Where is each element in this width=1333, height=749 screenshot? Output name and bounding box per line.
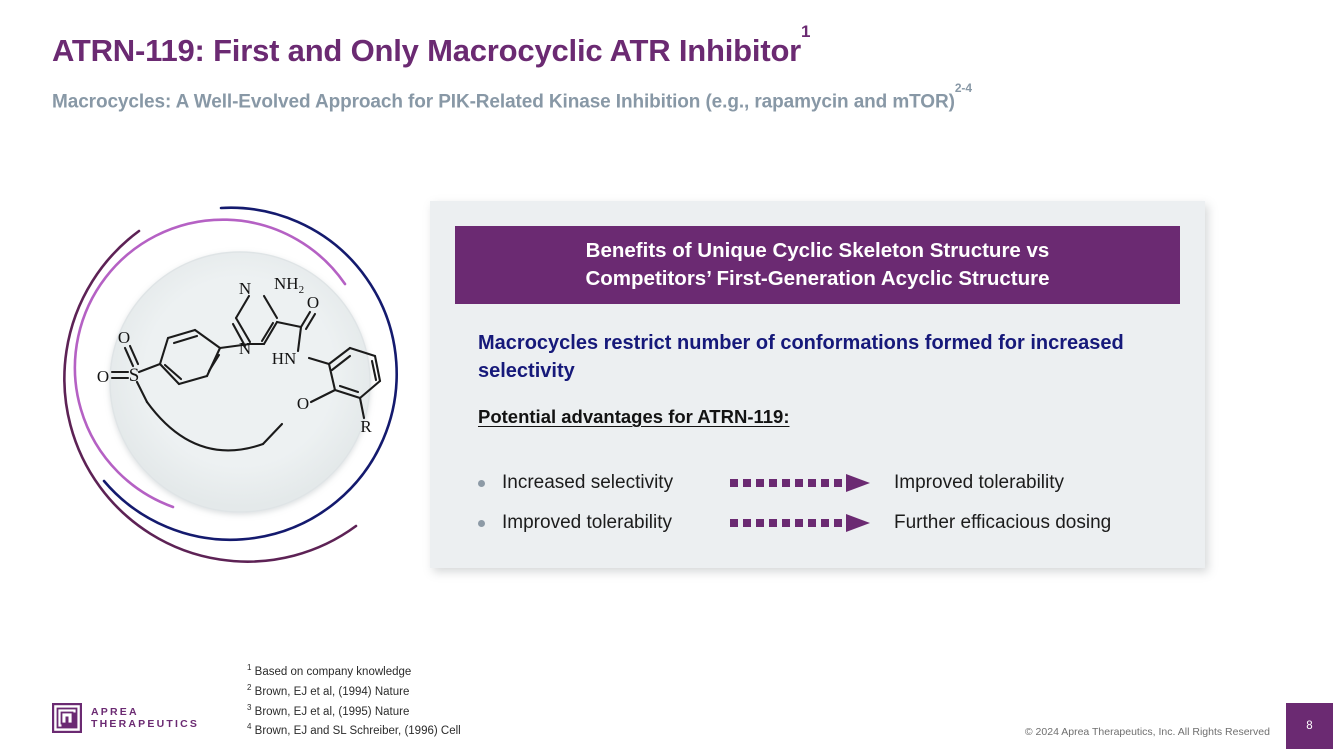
atom-label-r-group: R	[360, 417, 372, 436]
footnote-marker-3: 3	[247, 703, 251, 712]
page-subtitle-text: Macrocycles: A Well-Evolved Approach for…	[52, 91, 955, 112]
footnote-marker-2: 2	[247, 683, 251, 692]
atom-label-n-bottom: N	[239, 339, 251, 358]
footnote-text-2: Brown, EJ et al, (1994) Nature	[255, 686, 410, 698]
atom-label-n-top: N	[239, 279, 251, 298]
footnote-1: 1 Based on company knowledge	[247, 660, 461, 680]
atom-label-o-sulfonyl-top: O	[118, 328, 130, 347]
atom-label-o-ether: O	[297, 394, 309, 413]
page-title: ATRN-119: First and Only Macrocyclic ATR…	[52, 33, 810, 69]
atom-label-o-sulfonyl-left: O	[97, 367, 109, 386]
advantage-cause-1: Increased selectivity	[502, 472, 730, 494]
advantage-effect-2: Further efficacious dosing	[894, 512, 1111, 534]
dashed-arrow-icon	[730, 514, 874, 532]
list-item: Increased selectivity	[478, 463, 1178, 503]
benefits-panel-header-line-1: Benefits of Unique Cyclic Skeleton Struc…	[586, 237, 1050, 265]
footnote-text-1: Based on company knowledge	[255, 666, 412, 678]
panel-subheading: Potential advantages for ATRN-119:	[478, 406, 789, 428]
footnote-2: 2 Brown, EJ et al, (1994) Nature	[247, 680, 461, 700]
company-logo-wordmark: APREA THERAPEUTICS	[91, 706, 199, 731]
logo-line-2: THERAPEUTICS	[91, 718, 199, 730]
bullet-dot-icon	[478, 480, 485, 487]
page-subtitle-superscript: 2-4	[955, 81, 972, 95]
page-number-badge: 8	[1286, 703, 1333, 749]
advantage-cause-2: Improved tolerability	[502, 512, 730, 534]
benefits-panel-header: Benefits of Unique Cyclic Skeleton Struc…	[455, 226, 1180, 304]
page-title-text: ATRN-119: First and Only Macrocyclic ATR…	[52, 33, 801, 68]
list-item: Improved tolerability	[478, 503, 1178, 543]
advantage-effect-1: Improved tolerability	[894, 472, 1064, 494]
footnote-text-3: Brown, EJ et al, (1995) Nature	[255, 705, 410, 717]
logo-line-1: APREA	[91, 706, 139, 718]
company-logo: APREA THERAPEUTICS	[52, 703, 199, 733]
footnote-marker-4: 4	[247, 722, 251, 731]
atom-label-s: S	[129, 365, 140, 386]
bullet-dot-icon	[478, 520, 485, 527]
footnote-4: 4 Brown, EJ and SL Schreiber, (1996) Cel…	[247, 719, 461, 739]
footnote-3: 3 Brown, EJ et al, (1995) Nature	[247, 700, 461, 720]
aprea-maze-logo-icon	[52, 703, 82, 733]
benefits-panel-header-line-2: Competitors’ First-Generation Acyclic St…	[585, 265, 1049, 293]
molecule-structure-graphic: N N NH2 O HN O R S O O	[55, 196, 425, 566]
dashed-arrow-icon	[730, 474, 874, 492]
page-title-superscript: 1	[801, 22, 810, 41]
atom-label-o-carbonyl: O	[307, 293, 319, 312]
footnote-text-4: Brown, EJ and SL Schreiber, (1996) Cell	[255, 725, 461, 737]
page-subtitle: Macrocycles: A Well-Evolved Approach for…	[52, 89, 972, 113]
copyright-text: © 2024 Aprea Therapeutics, Inc. All Righ…	[1025, 726, 1270, 738]
footnotes-block: 1 Based on company knowledge 2 Brown, EJ…	[247, 660, 461, 739]
footnote-marker-1: 1	[247, 663, 251, 672]
benefits-panel: Benefits of Unique Cyclic Skeleton Struc…	[430, 201, 1205, 568]
atom-label-hn: HN	[272, 349, 297, 368]
advantages-list: Increased selectivity	[478, 463, 1178, 543]
panel-lead-statement: Macrocycles restrict number of conformat…	[478, 329, 1193, 385]
